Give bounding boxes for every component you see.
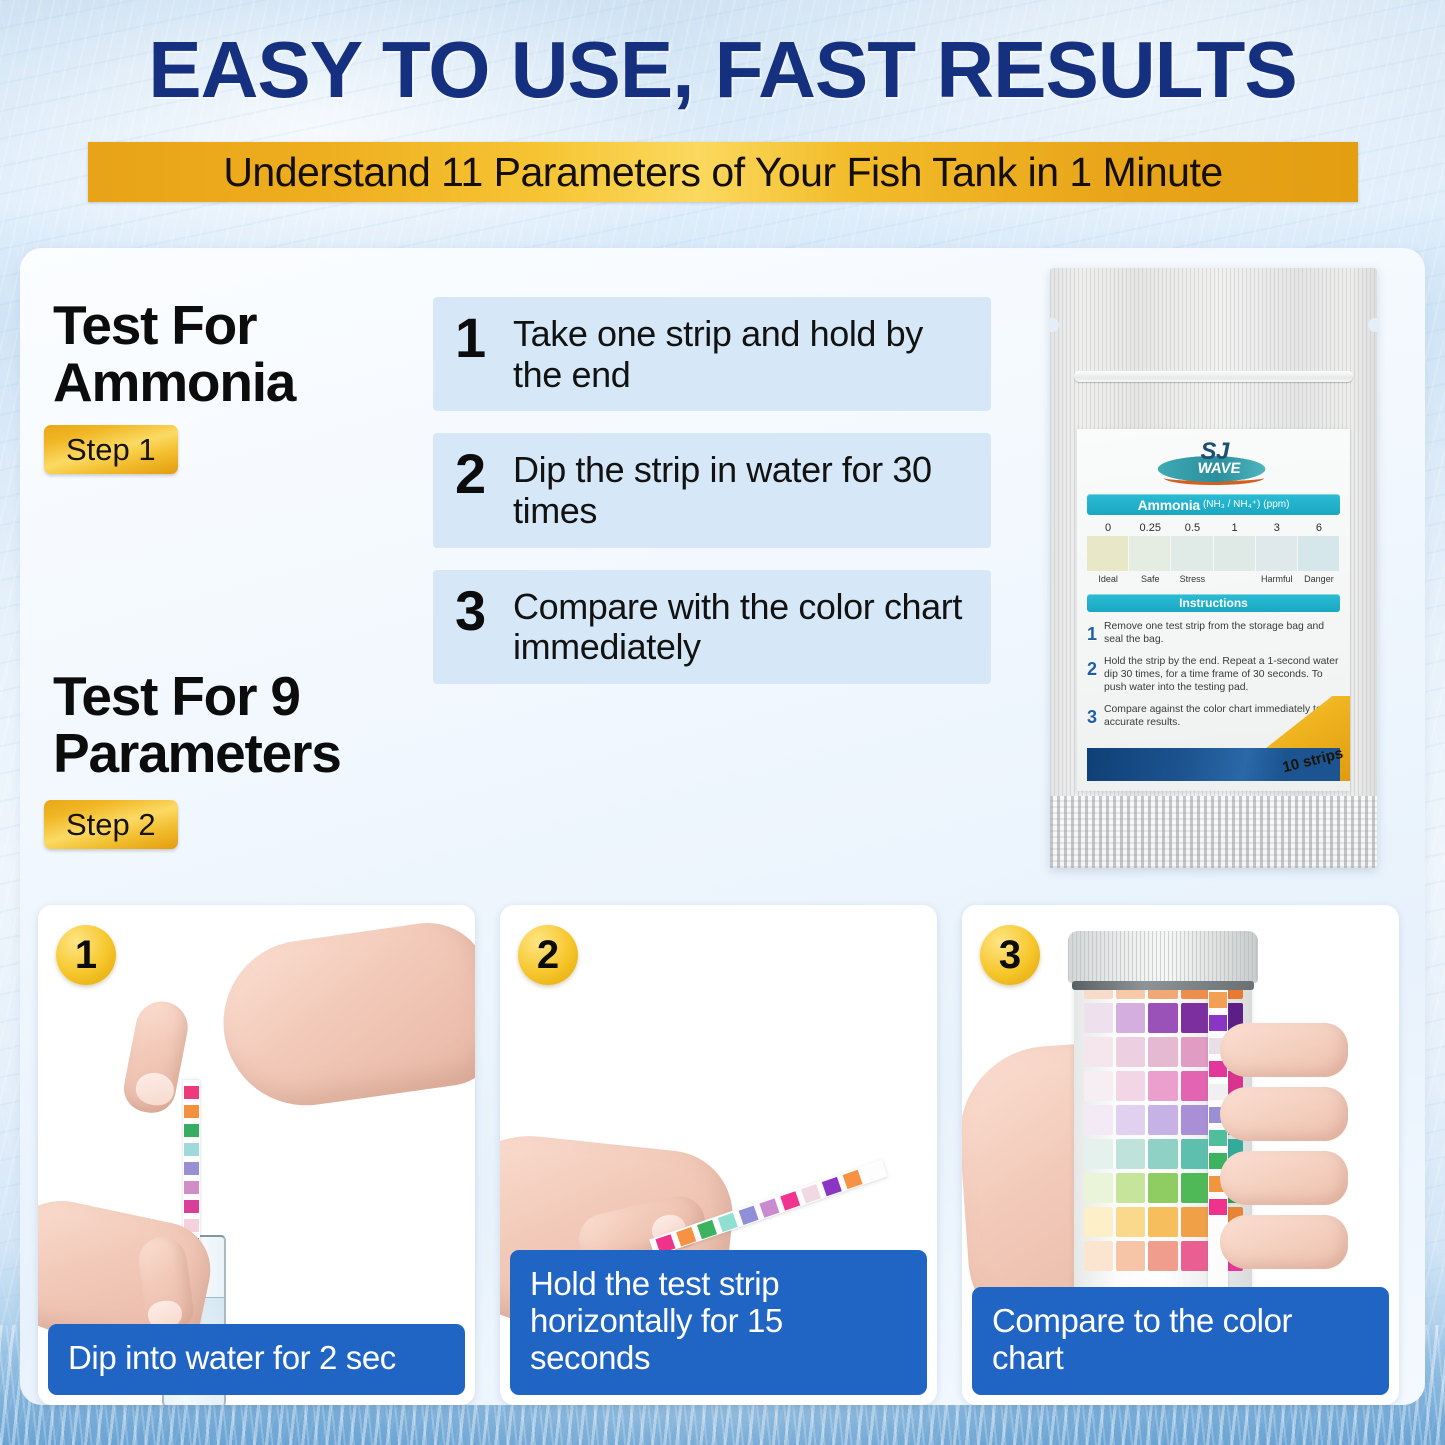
scale-value: 6 <box>1298 522 1340 534</box>
strip-pad <box>184 1162 199 1175</box>
tear-notch-right-icon <box>1368 318 1378 332</box>
finger <box>1220 1151 1348 1205</box>
packet-instruction: 1 Remove one test strip from the storage… <box>1087 620 1340 647</box>
strip-pad <box>842 1169 862 1188</box>
strip-pad <box>184 1105 199 1118</box>
card-badge-2: 2 <box>518 925 578 985</box>
finger <box>1220 1215 1348 1269</box>
color-swatch-row <box>1087 536 1340 571</box>
photo-card-3: 3 Compare to the color chart <box>962 905 1399 1405</box>
chart-swatch <box>1116 1173 1145 1203</box>
step-number: 2 <box>455 447 497 501</box>
ammonia-title-unit: (ppm) <box>1263 499 1289 510</box>
finger <box>1220 1087 1348 1141</box>
section-title-ammonia: Test For Ammonia <box>53 297 413 411</box>
strip-pad <box>718 1212 738 1231</box>
packet-instruction-number: 2 <box>1087 655 1104 695</box>
strip-pad <box>184 1143 199 1156</box>
scale-label: Stress <box>1171 574 1213 584</box>
instruction-step: 3 Compare with the color chart immediate… <box>433 570 991 684</box>
brand-logo: SJ WAVE <box>1087 438 1340 492</box>
chart-swatch <box>1084 1241 1113 1271</box>
scale-label: Ideal <box>1087 574 1129 584</box>
scale-value: 0.5 <box>1171 522 1213 534</box>
chart-swatch <box>1181 1037 1210 1067</box>
packet-instruction-number: 3 <box>1087 703 1104 730</box>
instruction-step: 2 Dip the strip in water for 30 times <box>433 433 991 547</box>
card-caption-3: Compare to the color chart <box>972 1287 1389 1395</box>
strip-pad <box>759 1198 779 1217</box>
strip-pad <box>676 1227 696 1246</box>
instruction-step-list: 1 Take one strip and hold by the end 2 D… <box>433 297 991 706</box>
scale-label: Danger <box>1298 574 1340 584</box>
packet-instruction: 2 Hold the strip by the end. Repeat a 1-… <box>1087 655 1340 695</box>
chart-swatch <box>1148 1241 1177 1271</box>
step-text: Dip the strip in water for 30 times <box>513 447 975 531</box>
bottle-cap-ring <box>1072 981 1254 990</box>
step-badge-1: Step 1 <box>44 425 178 474</box>
chart-swatch <box>1148 1139 1177 1169</box>
chart-swatch <box>1116 1037 1145 1067</box>
strip-pad <box>738 1205 758 1224</box>
chart-swatch <box>1148 1207 1177 1237</box>
chart-swatch <box>1181 1105 1210 1135</box>
subheadline-banner: Understand 11 Parameters of Your Fish Ta… <box>88 142 1358 202</box>
step-text: Take one strip and hold by the end <box>513 311 975 395</box>
photo-card-2: 2 Hold the test strip horizontally for 1… <box>500 905 937 1405</box>
instruction-step: 1 Take one strip and hold by the end <box>433 297 991 411</box>
chart-swatch <box>1181 1071 1210 1101</box>
chart-swatch <box>1084 1071 1113 1101</box>
chart-swatch <box>1181 1139 1210 1169</box>
chart-swatch <box>1181 1173 1210 1203</box>
section-title-parameters: Test For 9 Parameters <box>53 668 453 782</box>
ammonia-title-main: Ammonia <box>1138 497 1200 513</box>
chart-swatch <box>1116 1241 1145 1271</box>
step-number: 1 <box>455 311 497 365</box>
chart-swatch <box>1116 1071 1145 1101</box>
chart-swatch <box>1116 1207 1145 1237</box>
scale-label: Harmful <box>1256 574 1298 584</box>
packet-instruction-number: 1 <box>1087 620 1104 647</box>
strip-pad <box>184 1124 199 1137</box>
chart-swatch <box>1181 1207 1210 1237</box>
chart-swatch <box>1148 1003 1177 1033</box>
card-caption-1: Dip into water for 2 sec <box>48 1324 465 1395</box>
color-swatch <box>1087 536 1128 571</box>
packet-label: SJ WAVE Ammonia (NH₃ / NH₄⁺) (ppm) 0 0.2… <box>1077 429 1350 791</box>
hand-upper <box>213 915 475 1116</box>
chart-swatch <box>1084 1207 1113 1237</box>
chart-swatch <box>1084 1105 1113 1135</box>
chart-swatch <box>1148 1173 1177 1203</box>
scale-value: 0.25 <box>1129 522 1171 534</box>
strip-pad <box>801 1184 821 1203</box>
chart-swatch <box>1084 1173 1113 1203</box>
chart-swatch <box>1148 1071 1177 1101</box>
step-text: Compare with the color chart immediately <box>513 584 975 668</box>
chart-swatch <box>1116 1105 1145 1135</box>
chart-swatch <box>1084 1003 1113 1033</box>
chart-swatch <box>1148 1037 1177 1067</box>
strip-pad <box>184 1086 199 1099</box>
instructions-title-bar: Instructions <box>1087 594 1340 612</box>
scale-value-row: 0 0.25 0.5 1 3 6 <box>1087 522 1340 534</box>
ammonia-title-formula: (NH₃ / NH₄⁺) <box>1203 499 1260 510</box>
chart-swatch <box>1084 1139 1113 1169</box>
chart-swatch <box>1084 1037 1113 1067</box>
strip-pad <box>1209 992 1227 1008</box>
zip-seal <box>1074 371 1353 382</box>
scale-label <box>1214 574 1256 584</box>
packet-instruction-text: Hold the strip by the end. Repeat a 1-se… <box>1104 655 1340 695</box>
page-headline: EASY TO USE, FAST RESULTS <box>0 30 1445 110</box>
scale-value: 0 <box>1087 522 1129 534</box>
chart-swatch <box>1116 1139 1145 1169</box>
fingers <box>1220 1023 1348 1323</box>
product-packet: SJ WAVE Ammonia (NH₃ / NH₄⁺) (ppm) 0 0.2… <box>1050 268 1377 868</box>
strip-pad <box>184 1200 199 1213</box>
strip-pad <box>780 1191 800 1210</box>
color-swatch <box>1129 536 1170 571</box>
scale-value: 1 <box>1214 522 1256 534</box>
strip-pad <box>697 1219 717 1238</box>
scale-value: 3 <box>1256 522 1298 534</box>
color-swatch <box>1214 536 1255 571</box>
chart-swatch <box>1181 1241 1210 1271</box>
chart-swatch <box>1148 1105 1177 1135</box>
step-number: 3 <box>455 584 497 638</box>
scale-label-row: Ideal Safe Stress Harmful Danger <box>1087 574 1340 584</box>
ammonia-title-bar: Ammonia (NH₃ / NH₄⁺) (ppm) <box>1087 494 1340 515</box>
packet-instruction-text: Remove one test strip from the storage b… <box>1104 620 1340 647</box>
color-swatch <box>1298 536 1339 571</box>
scale-label: Safe <box>1129 574 1171 584</box>
chart-swatch <box>1116 1003 1145 1033</box>
subheadline-text: Understand 11 Parameters of Your Fish Ta… <box>223 149 1222 196</box>
color-swatch <box>1171 536 1212 571</box>
chart-swatch <box>1181 1003 1210 1033</box>
card-badge-3: 3 <box>980 925 1040 985</box>
strip-pad <box>822 1176 842 1195</box>
card-badge-1: 1 <box>56 925 116 985</box>
card-caption-2: Hold the test strip horizontally for 15 … <box>510 1250 927 1395</box>
strip-pad <box>184 1181 199 1194</box>
color-swatch <box>1256 536 1297 571</box>
logo-wave-text: WAVE <box>1196 460 1241 477</box>
photo-card-1: 1 Dip into water for 2 sec <box>38 905 475 1405</box>
bottle-cap <box>1068 931 1258 983</box>
step-badge-2: Step 2 <box>44 800 178 849</box>
finger <box>1220 1023 1348 1077</box>
